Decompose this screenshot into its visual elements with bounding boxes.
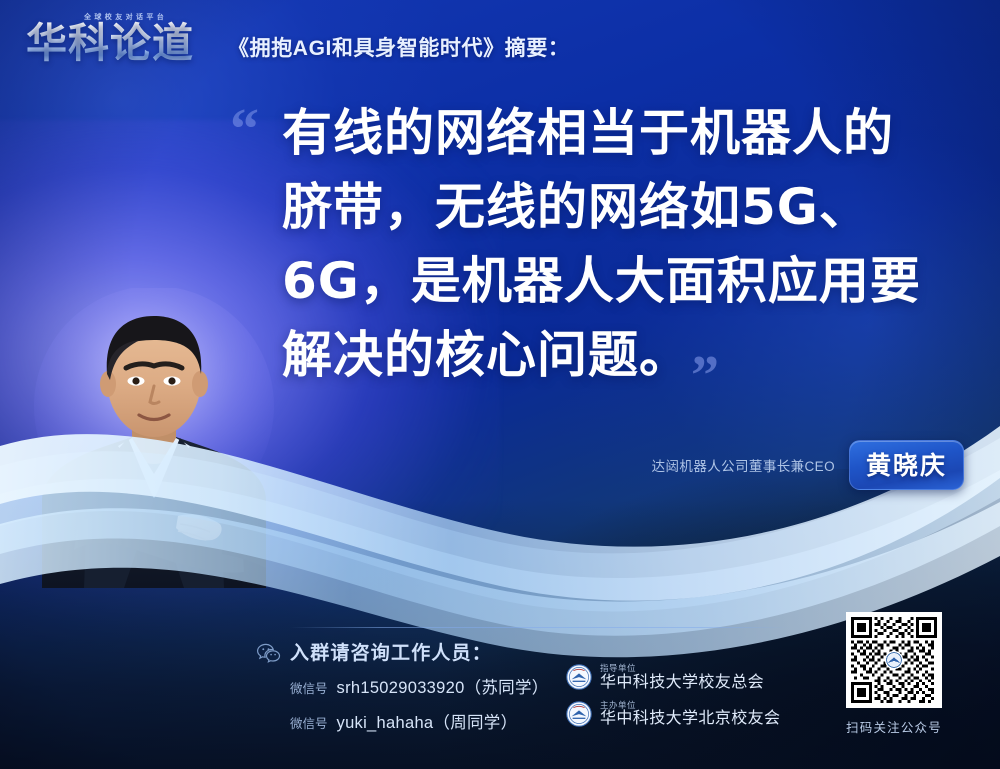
university-seal-icon — [566, 664, 592, 690]
qr-code-image[interactable] — [846, 612, 942, 708]
qr-section: 扫码关注公众号 — [832, 612, 956, 736]
organizer-name: 华中科技大学北京校友会 — [600, 711, 780, 727]
header: 全球校友对话平台 华科论道 《拥抱AGI和具身智能时代》摘要： — [0, 0, 1000, 86]
quote-text: 有线的网络相当于机器人的 脐带，无线的网络如5G、 6G，是机器人大面积应用要 … — [236, 96, 946, 392]
speaker-name: 黄晓庆 — [866, 452, 947, 480]
contact-label: 微信号 — [290, 678, 328, 697]
organizer-text: 指导单位 华中科技大学校友总会 — [600, 664, 764, 691]
footer: 入群请咨询工作人员： 微信号 srh15029033920（苏同学） 微信号 y… — [0, 624, 1000, 769]
organizer-name: 华中科技大学校友总会 — [600, 675, 764, 691]
contact-row: 微信号 srh15029033920（苏同学） — [290, 674, 549, 698]
wechat-icon — [256, 642, 282, 664]
qr-caption: 扫码关注公众号 — [832, 717, 956, 736]
footer-heading: 入群请咨询工作人员： — [290, 638, 492, 665]
footer-divider — [290, 627, 790, 628]
page-title: 《拥抱AGI和具身智能时代》摘要： — [228, 32, 570, 62]
attribution: 达闼机器人公司董事长兼CEO 黄晓庆 — [652, 440, 964, 490]
quote-line: 解决的核心问题。 — [282, 318, 946, 392]
quote-line: 6G，是机器人大面积应用要 — [282, 244, 946, 318]
contact-label: 微信号 — [290, 713, 328, 732]
quote-line: 脐带，无线的网络如5G、 — [282, 170, 946, 244]
contact-value[interactable]: yuki_hahaha（周同学） — [337, 709, 518, 733]
organizer-text: 主办单位 华中科技大学北京校友会 — [600, 701, 780, 728]
brand-logo: 全球校友对话平台 华科论道 — [26, 12, 221, 74]
speaker-role: 达闼机器人公司董事长兼CEO — [652, 455, 835, 475]
organizer-kind: 指导单位 — [600, 664, 764, 673]
contact-value[interactable]: srh15029033920（苏同学） — [337, 674, 549, 698]
poster-root: 全球校友对话平台 华科论道 《拥抱AGI和具身智能时代》摘要： — [0, 0, 1000, 769]
quote-close-icon: ” — [691, 348, 719, 404]
quote-line: 有线的网络相当于机器人的 — [282, 96, 946, 170]
organizer-list: 指导单位 华中科技大学校友总会 主办单位 华中科技大学北京校友会 — [566, 664, 780, 737]
quote-block: “ 有线的网络相当于机器人的 脐带，无线的网络如5G、 6G，是机器人大面积应用… — [236, 96, 946, 392]
organizer-row: 主办单位 华中科技大学北京校友会 — [566, 701, 780, 728]
contact-row: 微信号 yuki_hahaha（周同学） — [290, 709, 517, 733]
speaker-name-badge: 黄晓庆 — [849, 440, 964, 490]
organizer-kind: 主办单位 — [600, 701, 780, 710]
brand-logo-wordmark: 华科论道 — [26, 21, 194, 65]
university-seal-icon — [566, 701, 592, 727]
organizer-row: 指导单位 华中科技大学校友总会 — [566, 664, 780, 691]
